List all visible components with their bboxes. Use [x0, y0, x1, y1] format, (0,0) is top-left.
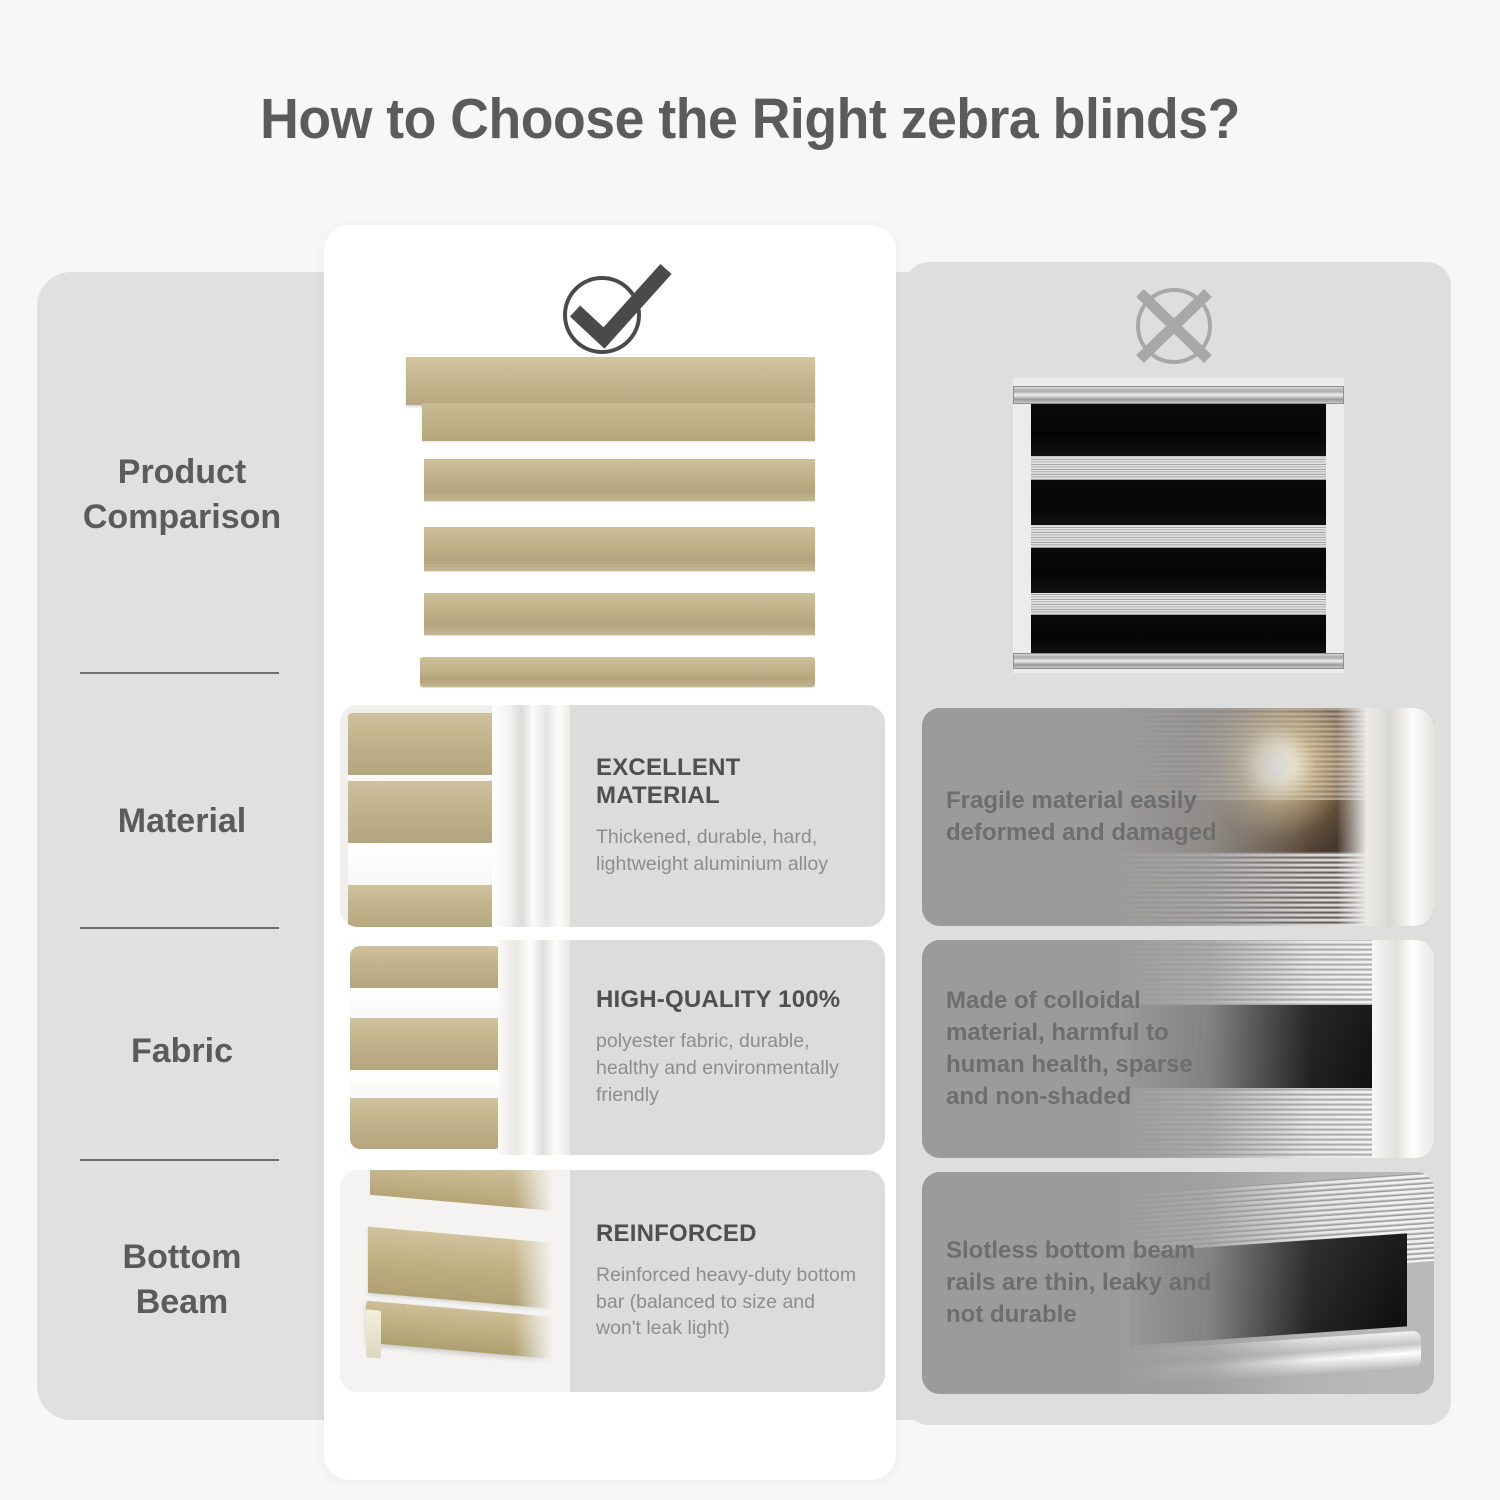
blind-sheer-band: [1031, 456, 1326, 480]
bad-feature-material-text: Fragile material easily deformed and dam…: [946, 708, 1226, 926]
blind-top-rail: [1013, 386, 1344, 404]
window-frame: [492, 705, 570, 927]
blind-bottom-bar: [420, 657, 815, 687]
good-feature-fabric-photo: [340, 940, 570, 1155]
bad-feature-bottom-beam-text: Slotless bottom beam rails are thin, lea…: [946, 1172, 1226, 1394]
blind-slat: [424, 593, 815, 635]
row-divider-2: [80, 927, 279, 929]
row-label-line1: Product: [37, 450, 327, 495]
blind-headrail-lip: [422, 403, 815, 441]
row-label-line1: Bottom: [37, 1235, 327, 1280]
row-label-column: Product Comparison Material Fabric Botto…: [37, 272, 327, 1420]
good-feature-bottom-beam: REINFORCED Reinforced heavy-duty bottom …: [340, 1170, 885, 1392]
blind-slat: [424, 459, 815, 501]
feature-body: Thickened, durable, hard, lightweight al…: [596, 824, 863, 877]
good-feature-fabric-text: HIGH-QUALITY 100% polyester fabric, dura…: [570, 940, 885, 1155]
good-hero-blind-image: [406, 357, 815, 697]
row-label-line2: Beam: [37, 1280, 327, 1325]
blind-black-band: [1031, 548, 1326, 593]
bad-feature-material: Fragile material easily deformed and dam…: [922, 708, 1434, 926]
row-divider-1: [80, 672, 279, 674]
row-label-line1: Fabric: [37, 1029, 327, 1074]
cross-circle-icon: [1118, 280, 1230, 372]
row-divider-3: [80, 1159, 279, 1161]
row-label-line2: Comparison: [37, 495, 327, 540]
row-label-product-comparison: Product Comparison: [37, 450, 327, 540]
window-frame: [498, 940, 570, 1155]
feature-heading: HIGH-QUALITY 100%: [596, 986, 863, 1014]
good-feature-material-photo: [340, 705, 570, 927]
blind-black-band: [1031, 404, 1326, 456]
feature-heading: EXCELLENT MATERIAL: [596, 754, 863, 810]
good-feature-bottom-beam-photo: [340, 1170, 570, 1392]
feature-body: Reinforced heavy-duty bottom bar (balanc…: [596, 1262, 863, 1342]
blind-photo-inner: [348, 713, 498, 923]
bad-feature-fabric-text: Made of colloidal material, harmful to h…: [946, 940, 1226, 1158]
good-feature-bottom-beam-text: REINFORCED Reinforced heavy-duty bottom …: [570, 1170, 885, 1392]
feature-body: polyester fabric, durable, healthy and e…: [596, 1028, 863, 1108]
blind-black-band: [1031, 615, 1326, 653]
blind-sheer-band: [1031, 525, 1326, 548]
row-label-line1: Material: [37, 799, 327, 844]
row-label-fabric: Fabric: [37, 1029, 327, 1074]
bad-feature-fabric: Made of colloidal material, harmful to h…: [922, 940, 1434, 1158]
row-label-material: Material: [37, 799, 327, 844]
blind-bottom-rail: [1013, 653, 1344, 669]
infographic-page: How to Choose the Right zebra blinds? Pr…: [0, 0, 1500, 1500]
blind-slat: [424, 527, 815, 571]
page-title: How to Choose the Right zebra blinds?: [45, 86, 1455, 152]
good-feature-material-text: EXCELLENT MATERIAL Thickened, durable, h…: [570, 705, 885, 927]
blind-sheer-band: [1031, 593, 1326, 615]
check-circle-icon: [545, 262, 675, 358]
good-feature-material: EXCELLENT MATERIAL Thickened, durable, h…: [340, 705, 885, 927]
row-label-bottom-beam: Bottom Beam: [37, 1235, 327, 1325]
bad-hero-blind-image: [1013, 378, 1344, 673]
blind-headrail: [406, 357, 815, 405]
feature-heading: REINFORCED: [596, 1220, 863, 1248]
blind-black-band: [1031, 480, 1326, 525]
bad-feature-bottom-beam: Slotless bottom beam rails are thin, lea…: [922, 1172, 1434, 1394]
blind-photo-inner: [350, 946, 504, 1149]
good-feature-fabric: HIGH-QUALITY 100% polyester fabric, dura…: [340, 940, 885, 1155]
